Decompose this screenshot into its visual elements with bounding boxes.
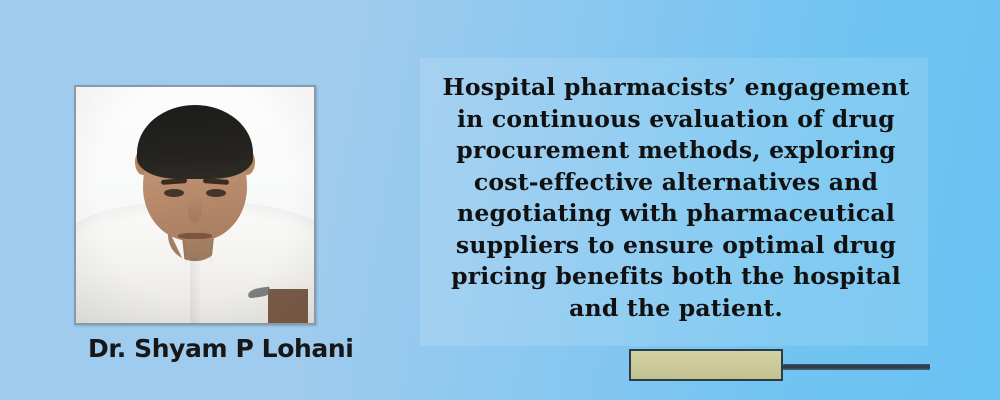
portrait-image <box>76 87 314 323</box>
portrait-photo <box>74 85 316 325</box>
photo-vignette <box>76 87 314 323</box>
portrait-caption: Dr. Shyam P Lohani <box>88 334 348 363</box>
decorative-line <box>783 364 930 370</box>
quote-text: Hospital pharmacists’ engagement in cont… <box>430 72 922 324</box>
quote-banner: Dr. Shyam P Lohani Hospital pharmacists’… <box>0 0 1000 400</box>
decorative-bar <box>629 349 783 381</box>
